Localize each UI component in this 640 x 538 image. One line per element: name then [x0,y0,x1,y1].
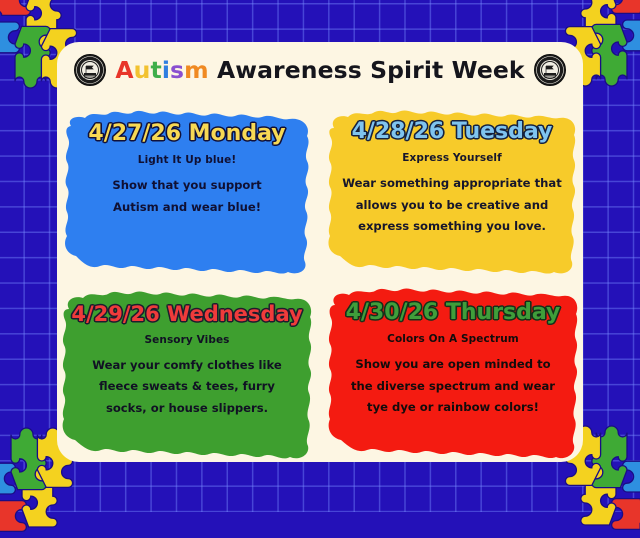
title-letter-u: u [134,56,151,84]
card-title-tuesday: 4/28/26 Tuesday [326,120,578,143]
card-body-tuesday: Wear something appropriate that allows y… [326,173,578,237]
card-body-monday: Show that you support Autism and wear bl… [62,175,312,218]
card-subtitle-tuesday: Express Yourself [326,152,578,164]
card-subtitle-monday: Light It Up blue! [62,154,312,166]
school-seal-icon-right [534,54,566,86]
title-rest: Awareness Spirit Week [209,56,525,84]
card-title-monday: 4/27/26 Monday [62,122,312,145]
card-body-thursday: Show you are open minded to the diverse … [326,354,580,418]
title-letter-m: m [184,56,209,84]
card-body-wednesday: Wear your comfy clothes like fleece swea… [60,355,314,419]
title-letter-i: i [162,56,170,84]
card-title-wednesday: 4/29/26 Wednesday [60,303,314,325]
card-body-line: allows you to be creative and [326,195,578,216]
card-body-line: tye dye or rainbow colors! [326,397,580,418]
title-letter-s: s [170,56,184,84]
day-card-thursday[interactable]: 4/30/26 Thursday Colors On A Spectrum Sh… [326,283,580,461]
card-body-line: express something you love. [326,216,578,237]
card-body-line: Show you are open minded to [326,354,580,375]
card-subtitle-wednesday: Sensory Vibes [60,334,314,346]
card-body-line: Autism and wear blue! [62,197,312,218]
title-letter-a: A [115,56,133,84]
card-body-line: fleece sweats & tees, furry [60,376,314,397]
card-body-line: Wear your comfy clothes like [60,355,314,376]
card-subtitle-thursday: Colors On A Spectrum [326,333,580,345]
card-body-line: the diverse spectrum and wear [326,376,580,397]
day-card-monday[interactable]: 4/27/26 Monday Light It Up blue! Show th… [62,104,312,276]
card-body-line: Wear something appropriate that [326,173,578,194]
card-body-line: Show that you support [62,175,312,196]
poster-header: Autism Awareness Spirit Week [57,46,583,94]
card-title-thursday: 4/30/26 Thursday [326,301,580,324]
page-title: Autism Awareness Spirit Week [115,56,524,84]
title-letter-t: t [151,56,162,84]
day-card-tuesday[interactable]: 4/28/26 Tuesday Express Yourself Wear so… [326,104,578,276]
day-card-wednesday[interactable]: 4/29/26 Wednesday Sensory Vibes Wear you… [60,285,314,461]
card-body-line: socks, or house slippers. [60,398,314,419]
school-seal-icon-left [74,54,106,86]
